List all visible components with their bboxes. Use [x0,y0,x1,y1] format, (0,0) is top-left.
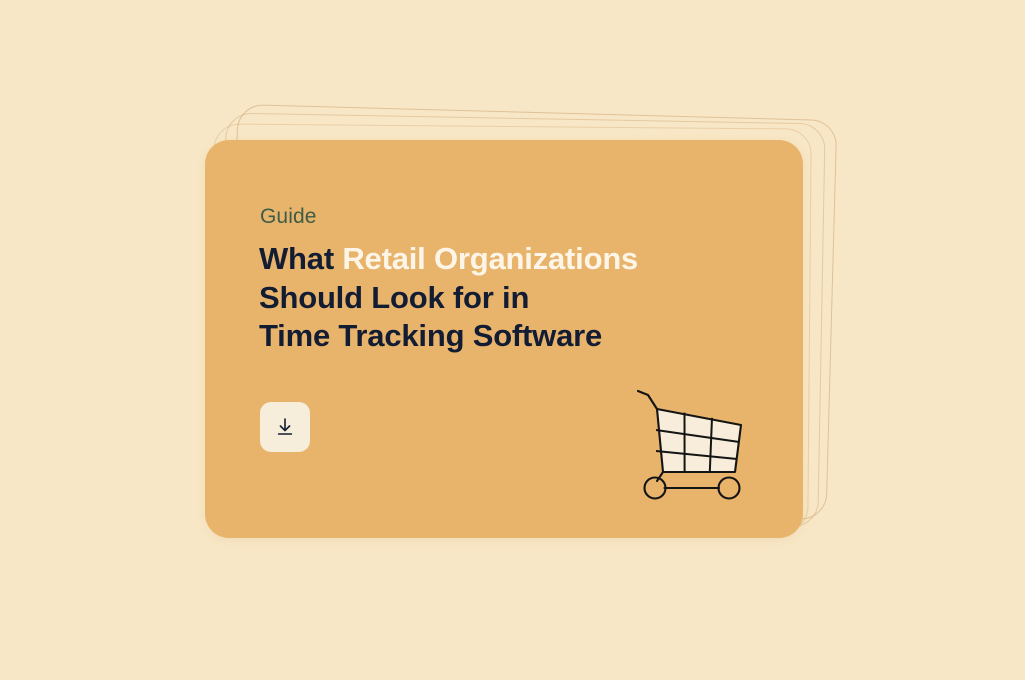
card-eyebrow-label: Guide [260,206,317,227]
download-button[interactable] [260,402,310,452]
shopping-cart-icon [635,380,765,500]
download-icon [274,416,296,438]
title-line1-plain: What [259,241,342,276]
card-title: What Retail OrganizationsShould Look for… [259,240,779,356]
title-line3: Time Tracking Software [259,318,602,353]
shopping-cart-illustration [635,380,765,500]
poster-canvas: Guide What Retail OrganizationsShould Lo… [0,0,1025,680]
guide-card[interactable]: Guide What Retail OrganizationsShould Lo… [205,140,803,538]
title-line2: Should Look for in [259,280,529,315]
title-line1-highlight: Retail Organizations [342,241,638,276]
